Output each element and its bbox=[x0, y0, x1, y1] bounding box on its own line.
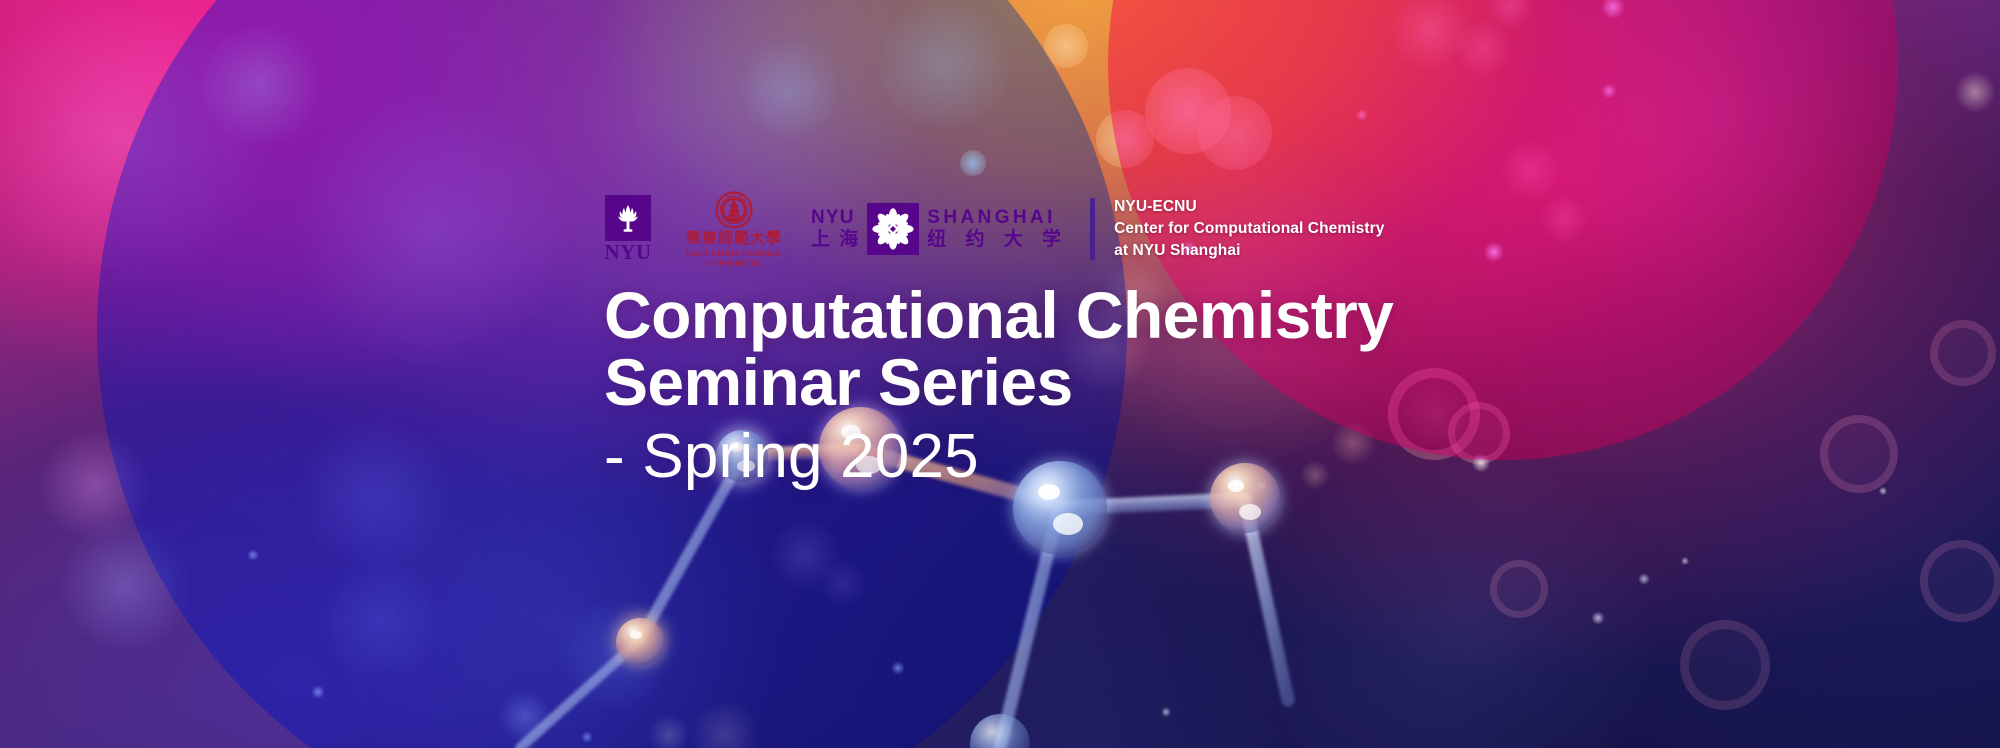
banner-content: NYU bbox=[0, 0, 2000, 748]
headline-line1: Computational Chemistry bbox=[604, 282, 1393, 349]
ecnu-logo[interactable]: 華東師範大學 EAST CHINA NORMAL UNIVERSITY bbox=[679, 190, 789, 269]
nyu-shanghai-nyu-chinese: 上 海 bbox=[811, 230, 860, 251]
nyu-shanghai-left-text: NYU 上 海 bbox=[811, 208, 860, 251]
ecnu-english-line1: EAST CHINA NORMAL bbox=[686, 249, 782, 259]
headline-line2: Seminar Series bbox=[604, 349, 1393, 416]
ecnu-chinese-name: 華東師範大學 bbox=[686, 231, 782, 248]
center-name-line1: NYU-ECNU bbox=[1114, 196, 1384, 218]
logo-strip: NYU bbox=[597, 190, 1385, 269]
nyu-wordmark: NYU bbox=[605, 242, 652, 263]
nyu-torch-icon bbox=[605, 195, 651, 241]
banner-headline: Computational Chemistry Seminar Series -… bbox=[604, 282, 1393, 493]
ecnu-seal-icon bbox=[715, 190, 753, 230]
center-name-line3: at NYU Shanghai bbox=[1114, 240, 1384, 262]
nyu-shanghai-flower-icon bbox=[867, 203, 919, 255]
seminar-banner: NYU bbox=[0, 0, 2000, 748]
nyu-shanghai-nyu: NYU bbox=[811, 208, 855, 228]
nyu-shanghai-shanghai-chinese: 纽 约 大 学 bbox=[927, 230, 1068, 251]
nyu-shanghai-shanghai: SHANGHAI bbox=[927, 208, 1056, 228]
logo-divider bbox=[1090, 198, 1095, 260]
center-name-block: NYU-ECNU Center for Computational Chemis… bbox=[1114, 196, 1384, 262]
headline-line3: - Spring 2025 bbox=[604, 420, 1393, 493]
nyu-shanghai-logo[interactable]: NYU 上 海 bbox=[811, 203, 1068, 255]
nyu-shanghai-right-text: SHANGHAI 纽 约 大 学 bbox=[927, 208, 1068, 251]
center-name-line2: Center for Computational Chemistry bbox=[1114, 218, 1384, 240]
ecnu-english-line2: UNIVERSITY bbox=[706, 259, 761, 269]
nyu-logo[interactable]: NYU bbox=[597, 195, 659, 263]
